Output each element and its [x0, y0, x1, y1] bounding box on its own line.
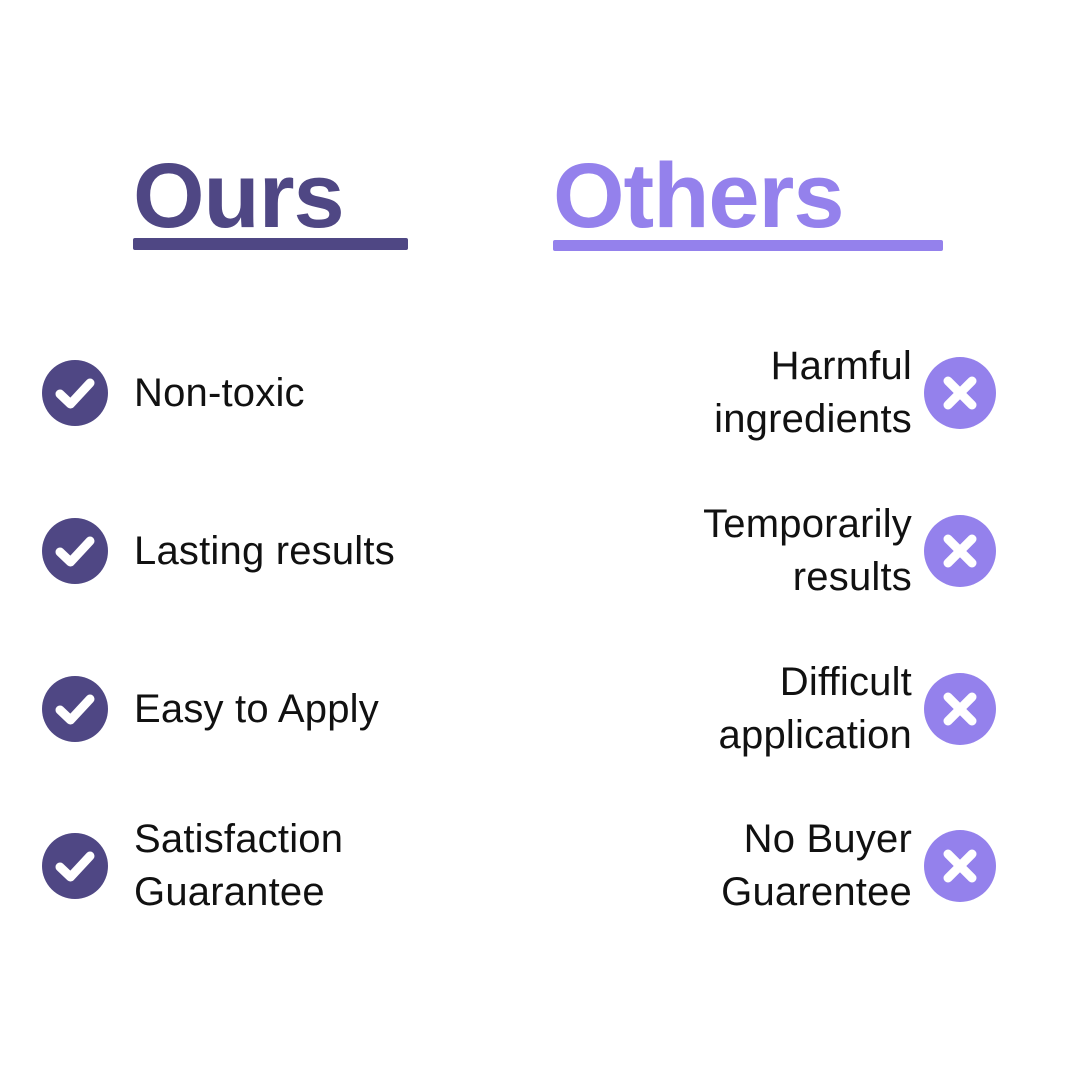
list-item: Difficult application: [580, 639, 996, 779]
list-item: Lasting results: [42, 481, 472, 621]
list-item: Satisfaction Guarantee: [42, 796, 472, 936]
column-heading-others: Others: [553, 150, 844, 242]
list-item-label: Temporarily results: [580, 498, 912, 604]
list-item-label: No Buyer Guarentee: [580, 813, 912, 919]
list-item-label: Lasting results: [134, 525, 395, 578]
check-circle-icon: [42, 360, 108, 426]
column-heading-ours: Ours: [133, 150, 344, 242]
list-item-label: Difficult application: [580, 656, 912, 762]
column-heading-underline-others: [553, 240, 943, 251]
check-circle-icon: [42, 676, 108, 742]
x-circle-icon: [924, 673, 996, 745]
x-circle-icon: [924, 357, 996, 429]
list-item-label: Non-toxic: [134, 367, 305, 420]
comparison-graphic: Ours Others Non-toxic Lasting results Ea…: [0, 0, 1080, 1080]
check-circle-icon: [42, 518, 108, 584]
list-item: Harmful ingredients: [580, 323, 996, 463]
list-item-label: Harmful ingredients: [580, 340, 912, 446]
list-item: Easy to Apply: [42, 639, 472, 779]
check-circle-icon: [42, 833, 108, 899]
list-item: No Buyer Guarentee: [580, 796, 996, 936]
list-item: Temporarily results: [580, 481, 996, 621]
list-item: Non-toxic: [42, 323, 472, 463]
x-circle-icon: [924, 515, 996, 587]
column-heading-underline-ours: [133, 238, 408, 250]
list-item-label: Satisfaction Guarantee: [134, 813, 472, 919]
x-circle-icon: [924, 830, 996, 902]
list-item-label: Easy to Apply: [134, 683, 379, 736]
